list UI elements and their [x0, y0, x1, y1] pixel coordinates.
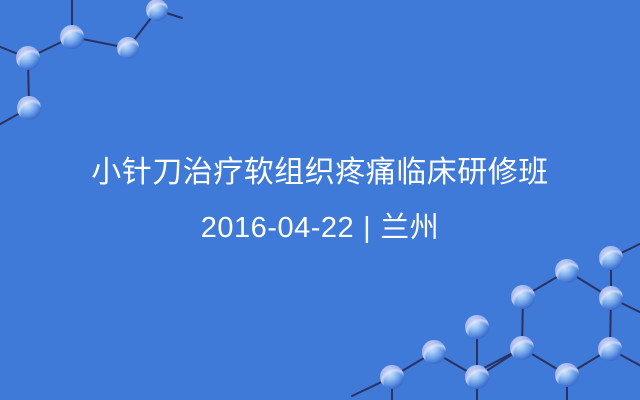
- event-title: 小针刀治疗软组织疼痛临床研修班: [91, 154, 549, 192]
- event-city: 兰州: [380, 210, 439, 246]
- event-date: 2016-04-22: [201, 210, 354, 246]
- banner-text-block: 小针刀治疗软组织疼痛临床研修班 2016-04-22 | 兰州: [0, 0, 640, 400]
- event-meta: 2016-04-22 | 兰州: [201, 210, 439, 246]
- meta-separator: |: [363, 210, 371, 246]
- event-banner: 小针刀治疗软组织疼痛临床研修班 2016-04-22 | 兰州: [0, 0, 640, 400]
